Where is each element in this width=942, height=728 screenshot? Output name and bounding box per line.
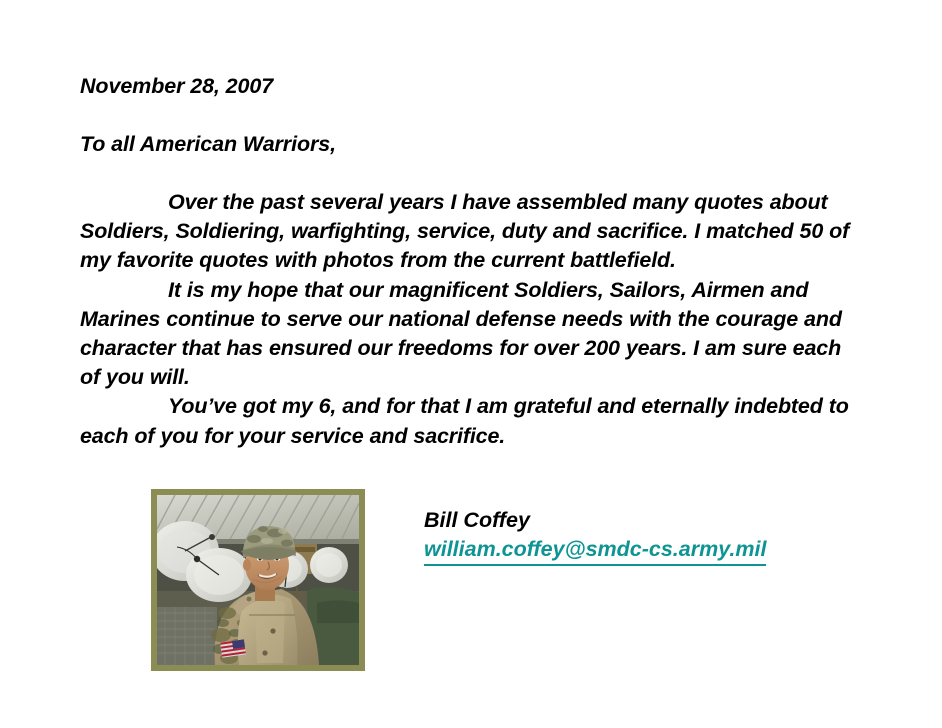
letter-date: November 28, 2007 — [80, 72, 862, 101]
letter-paragraph-1: Over the past several years I have assem… — [80, 188, 862, 276]
soldier-photo-graphic — [157, 495, 359, 665]
signature-block: Bill Coffey william.coffey@smdc-cs.army.… — [424, 506, 844, 566]
signature-email-link[interactable]: william.coffey@smdc-cs.army.mil — [424, 535, 766, 566]
photo-frame — [151, 489, 365, 671]
letter-paragraph-2: It is my hope that our magnificent Soldi… — [80, 276, 862, 393]
letter-page: November 28, 2007 To all American Warrio… — [0, 0, 942, 728]
signature-name: Bill Coffey — [424, 506, 844, 535]
letter-paragraph-3: You’ve got my 6, and for that I am grate… — [80, 392, 862, 450]
letter-salutation: To all American Warriors, — [80, 130, 862, 159]
soldier-photo — [157, 495, 359, 665]
letter-body: November 28, 2007 To all American Warrio… — [80, 72, 862, 451]
